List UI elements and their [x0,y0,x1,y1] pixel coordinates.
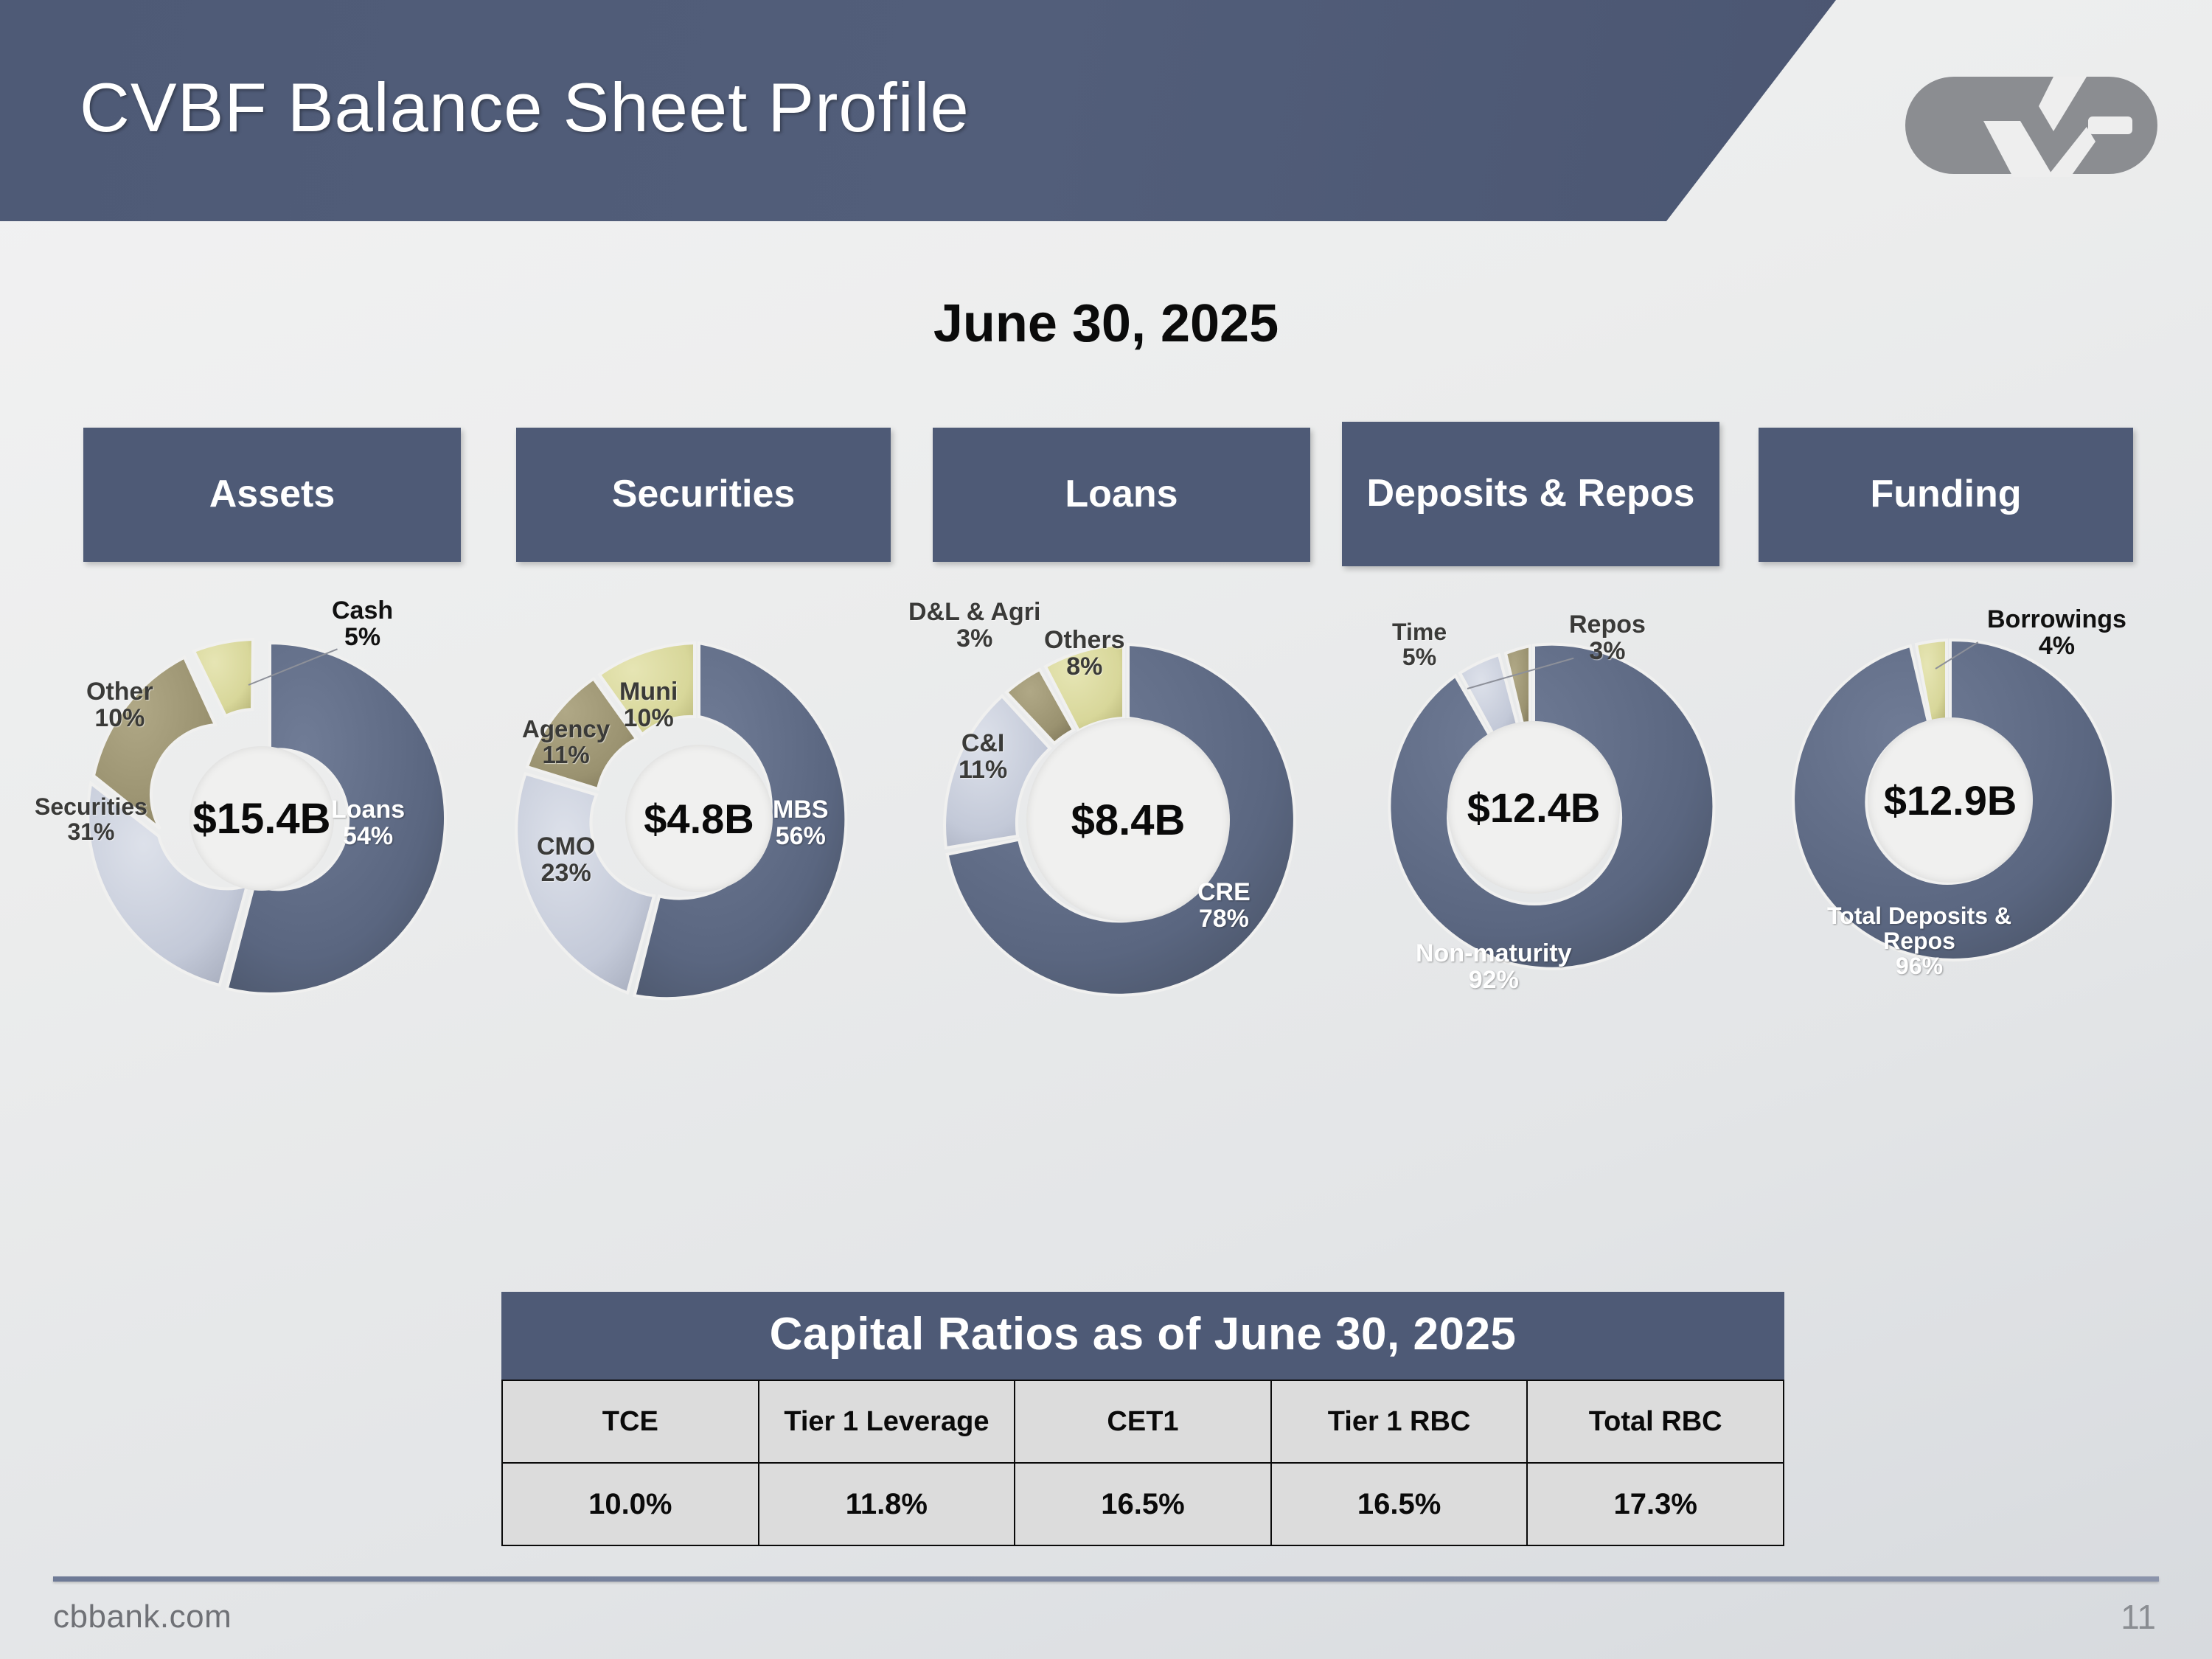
table-header-total-rbc: Total RBC [1527,1380,1784,1463]
label-others: Others 8% [1044,627,1125,680]
cvb-financial-logo [1902,74,2160,177]
footer-divider [53,1576,2159,1582]
label-repos-name: Repos [1569,611,1646,638]
label-loans-name: Loans [331,796,405,823]
label-time: Time 5% [1392,620,1447,670]
label-total-deposits-repos: Total Deposits & Repos 96% [1827,904,2011,979]
label-others-name: Others [1044,627,1125,653]
label-loans: Loans 54% [331,796,405,849]
label-cmo-pct: 23% [537,860,595,886]
label-repos-pct: 3% [1569,638,1646,664]
label-mbs-name: MBS [773,796,829,823]
footer-page-number: 11 [2121,1597,2156,1637]
label-muni-name: Muni [619,678,678,705]
column-header-assets-label: Assets [209,474,335,515]
column-header-assets: Assets [83,428,461,562]
capital-ratios-section: Capital Ratios as of June 30, 2025 TCE T… [501,1292,1784,1546]
label-cre-name: CRE [1197,879,1251,905]
donut-chart-securities: $4.8B MBS 56% CMO 23% Agency 11% Muni 10… [494,613,904,1023]
label-borrowings: Borrowings 4% [1987,606,2126,659]
label-total-deposits-repos-name2: Repos [1827,929,2011,954]
table-header-tier1-leverage: Tier 1 Leverage [759,1380,1015,1463]
capital-ratios-table: TCE Tier 1 Leverage CET1 Tier 1 RBC Tota… [501,1380,1784,1546]
column-header-securities: Securities [516,428,891,562]
column-header-loans: Loans [933,428,1310,562]
label-securities-pct: 31% [35,820,147,845]
donut-assets-center-value: $15.4B [189,746,334,891]
label-total-deposits-repos-pct: 96% [1827,954,2011,979]
label-other: Other 10% [86,678,153,731]
label-non-maturity: Non-maturity 92% [1416,940,1572,993]
label-ci-name: C&I [959,730,1007,757]
label-repos: Repos 3% [1569,611,1646,664]
label-mbs-pct: 56% [773,823,829,849]
label-agency-name: Agency [522,717,610,742]
label-borrowings-pct: 4% [1987,633,2126,659]
table-header-cet1: CET1 [1015,1380,1271,1463]
table-row: 10.0% 11.8% 16.5% 16.5% 17.3% [502,1463,1784,1545]
label-non-maturity-pct: 92% [1416,967,1572,993]
table-cell-cet1-value: 16.5% [1015,1463,1271,1545]
column-header-funding: Funding [1759,428,2133,562]
label-cre: CRE 78% [1197,879,1251,932]
label-cmo: CMO 23% [537,833,595,886]
label-time-name: Time [1392,620,1447,645]
label-dl-agri-name: D&L & Agri [908,599,1040,625]
label-muni: Muni 10% [619,678,678,731]
label-others-pct: 8% [1044,653,1125,680]
label-other-pct: 10% [86,705,153,731]
label-borrowings-name: Borrowings [1987,606,2126,633]
donut-chart-funding: $12.9B Total Deposits & Repos 96% Borrow… [1770,619,2131,981]
donut-chart-assets: $15.4B Loans 54% Securities 31% Other 10… [55,612,468,1025]
donut-securities-center-value: $4.8B [625,745,773,892]
label-agency: Agency 11% [522,717,610,768]
label-time-pct: 5% [1392,645,1447,670]
table-header-row: TCE Tier 1 Leverage CET1 Tier 1 RBC Tota… [502,1380,1784,1463]
label-cmo-name: CMO [537,833,595,860]
label-cash: Cash 5% [332,597,393,650]
column-header-securities-label: Securities [612,474,796,515]
label-loans-pct: 54% [331,823,405,849]
label-securities-name: Securities [35,795,147,820]
label-agency-pct: 11% [522,742,610,768]
donut-chart-deposits-repos: $12.4B Non-maturity 92% Time 5% Repos 3% [1349,623,1718,992]
table-header-tce: TCE [502,1380,759,1463]
footer-website-link[interactable]: cbbank.com [53,1599,232,1635]
label-other-name: Other [86,678,153,705]
slide-date-title: June 30, 2025 [0,293,2212,354]
label-cash-pct: 5% [332,624,393,650]
label-non-maturity-name: Non-maturity [1416,940,1572,967]
capital-ratios-title: Capital Ratios as of June 30, 2025 [501,1292,1784,1380]
label-mbs: MBS 56% [773,796,829,849]
donut-deposits-center-value: $12.4B [1447,721,1620,894]
column-header-deposits-repos: Deposits & Repos [1342,422,1719,566]
label-cre-pct: 78% [1197,905,1251,932]
page-title: CVBF Balance Sheet Profile [80,68,970,147]
label-securities: Securities 31% [35,795,147,845]
donut-funding-center-value: $12.9B [1868,717,2033,883]
label-cash-name: Cash [332,597,393,624]
table-header-tier1-rbc: Tier 1 RBC [1271,1380,1528,1463]
label-total-deposits-repos-name1: Total Deposits & [1827,904,2011,929]
table-cell-tier1-rbc-value: 16.5% [1271,1463,1528,1545]
label-dl-agri: D&L & Agri 3% [908,599,1040,652]
column-header-deposits-repos-label: Deposits & Repos [1367,473,1695,514]
label-muni-pct: 10% [619,705,678,731]
column-header-loans-label: Loans [1065,474,1178,515]
table-cell-total-rbc-value: 17.3% [1527,1463,1784,1545]
label-dl-agri-pct: 3% [908,625,1040,652]
table-cell-tier1-leverage-value: 11.8% [759,1463,1015,1545]
table-cell-tce-value: 10.0% [502,1463,759,1545]
donut-chart-loans: $8.4B CRE 78% C&I 11% D&L & Agri 3% Othe… [922,613,1335,1026]
label-ci-pct: 11% [959,757,1007,783]
label-ci: C&I 11% [959,730,1007,783]
column-header-funding-label: Funding [1870,474,2021,515]
